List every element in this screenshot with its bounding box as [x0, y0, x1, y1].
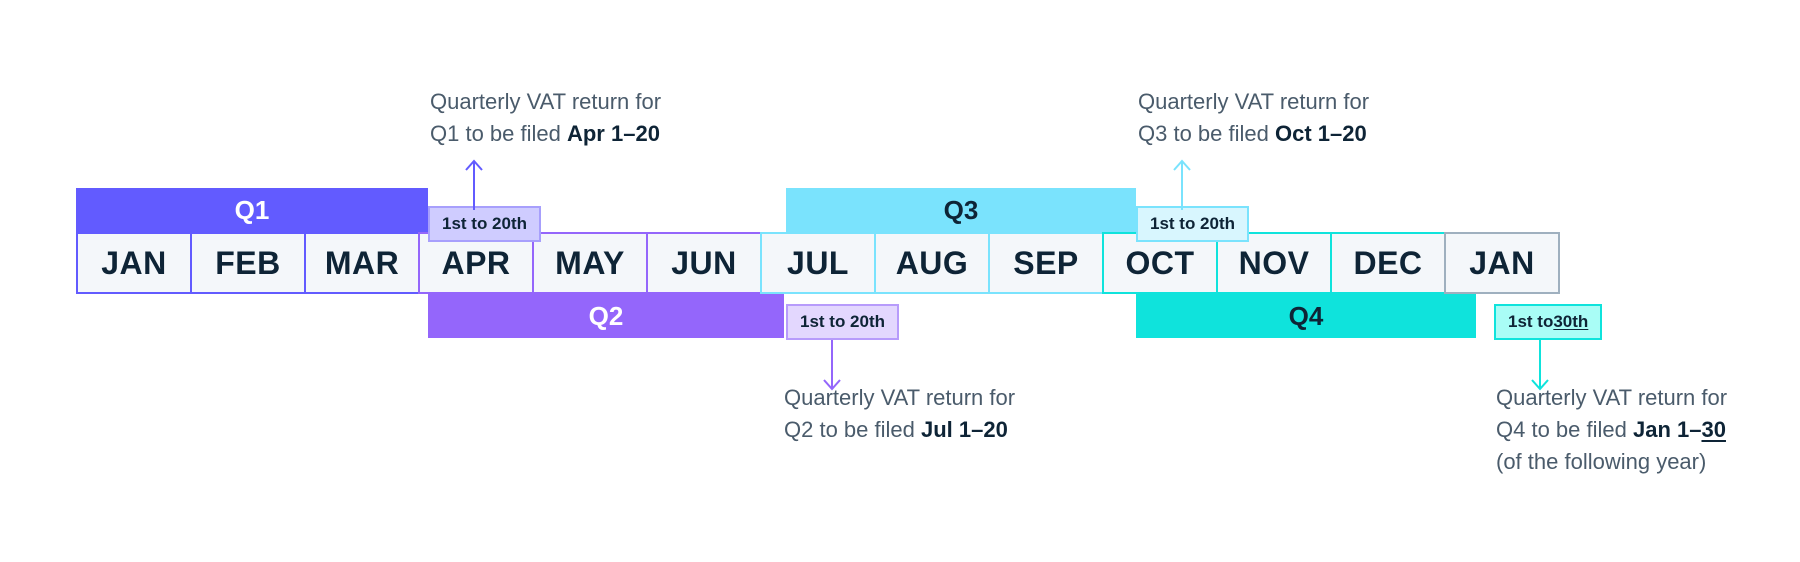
annotation-q3-date: Oct 1–20: [1275, 121, 1367, 146]
annotation-q1-line1: Quarterly VAT return for: [430, 86, 661, 118]
month-label: AUG: [896, 245, 969, 282]
month-label: DEC: [1353, 245, 1422, 282]
annotation-q1-line2: Q1 to be filed Apr 1–20: [430, 118, 661, 150]
month-cell-may: MAY: [532, 232, 648, 294]
quarter-bar-q3: Q3: [786, 188, 1136, 232]
month-strip: JAN FEB MAR APR MAY JUN JUL AUG SEP OCT …: [76, 232, 1560, 294]
month-cell-jan: JAN: [76, 232, 192, 294]
annotation-q4-lead: Q4 to be filed: [1496, 417, 1633, 442]
quarter-bar-q4-label: Q4: [1289, 301, 1324, 332]
month-cell-feb: FEB: [190, 232, 306, 294]
filing-window-badge-q4: 1st to 30th: [1494, 304, 1602, 340]
month-label: FEB: [215, 245, 281, 282]
month-label: APR: [441, 245, 510, 282]
month-cell-jan-next-year: JAN: [1444, 232, 1560, 294]
quarter-bar-q2-label: Q2: [589, 301, 624, 332]
annotation-q4-date-main: Jan 1–: [1633, 417, 1702, 442]
filing-window-badge-q3-text: 1st to 20th: [1150, 214, 1235, 234]
annotation-q2-line1: Quarterly VAT return for: [784, 382, 1015, 414]
month-label: NOV: [1239, 245, 1310, 282]
month-cell-aug: AUG: [874, 232, 990, 294]
month-label: JUN: [671, 245, 737, 282]
filing-window-badge-q1-text: 1st to 20th: [442, 214, 527, 234]
filing-window-badge-q4-day: 30th: [1553, 312, 1588, 332]
annotation-q4: Quarterly VAT return for Q4 to be filed …: [1496, 382, 1727, 478]
month-label: JAN: [101, 245, 167, 282]
month-label: OCT: [1125, 245, 1194, 282]
annotation-q2-line2: Q2 to be filed Jul 1–20: [784, 414, 1015, 446]
annotation-q3-line2: Q3 to be filed Oct 1–20: [1138, 118, 1369, 150]
annotation-q4-line2: Q4 to be filed Jan 1–30: [1496, 414, 1727, 446]
annotation-q2: Quarterly VAT return for Q2 to be filed …: [784, 382, 1015, 446]
annotation-q4-date-day: 30: [1701, 417, 1725, 442]
annotation-q3-line1: Quarterly VAT return for: [1138, 86, 1369, 118]
quarter-bar-q2: Q2: [428, 294, 784, 338]
filing-window-badge-q2: 1st to 20th: [786, 304, 899, 340]
quarter-bar-q3-label: Q3: [944, 195, 979, 226]
month-label: SEP: [1013, 245, 1079, 282]
month-label: JAN: [1469, 245, 1535, 282]
month-cell-dec: DEC: [1330, 232, 1446, 294]
month-label: MAR: [325, 245, 399, 282]
quarter-bar-q4: Q4: [1136, 294, 1476, 338]
annotation-q4-line1: Quarterly VAT return for: [1496, 382, 1727, 414]
quarter-bar-q1: Q1: [76, 188, 428, 232]
vat-timeline-diagram: Q1 Q2 Q3 Q4 JAN FEB MAR APR MAY JUN JUL …: [0, 0, 1800, 562]
month-cell-jun: JUN: [646, 232, 762, 294]
annotation-q2-date: Jul 1–20: [921, 417, 1008, 442]
arrow-up-icon-q3: [1170, 158, 1194, 210]
filing-window-badge-q1: 1st to 20th: [428, 206, 541, 242]
annotation-q4-date: Jan 1–30: [1633, 417, 1726, 442]
month-cell-mar: MAR: [304, 232, 420, 294]
month-cell-sep: SEP: [988, 232, 1104, 294]
annotation-q1-date: Apr 1–20: [567, 121, 660, 146]
month-label: MAY: [555, 245, 625, 282]
annotation-q3: Quarterly VAT return for Q3 to be filed …: [1138, 86, 1369, 150]
annotation-q3-lead: Q3 to be filed: [1138, 121, 1275, 146]
quarter-bar-q1-label: Q1: [235, 195, 270, 226]
annotation-q4-line3: (of the following year): [1496, 446, 1727, 478]
arrow-up-icon-q1: [462, 158, 486, 210]
filing-window-badge-q2-text: 1st to 20th: [800, 312, 885, 332]
month-label: JUL: [787, 245, 849, 282]
annotation-q1-lead: Q1 to be filed: [430, 121, 567, 146]
filing-window-badge-q3: 1st to 20th: [1136, 206, 1249, 242]
month-cell-jul: JUL: [760, 232, 876, 294]
annotation-q1: Quarterly VAT return for Q1 to be filed …: [430, 86, 661, 150]
filing-window-badge-q4-prefix: 1st to: [1508, 312, 1553, 332]
annotation-q2-lead: Q2 to be filed: [784, 417, 921, 442]
